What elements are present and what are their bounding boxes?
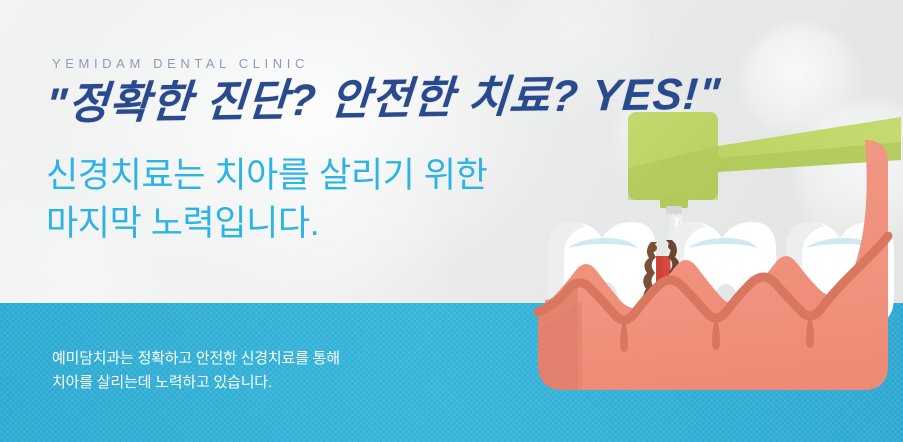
brand-eyebrow: YEMIDAM DENTAL CLINIC (52, 56, 309, 71)
subheadline: 신경치료는 치아를 살리기 위한 마지막 노력입니다. (46, 152, 487, 247)
dental-drill-handpiece (628, 112, 718, 214)
page-title: "정확한 진단? 안전한 치료? YES!" (44, 71, 722, 128)
dental-illustration (520, 0, 903, 442)
dental-clinic-banner: YEMIDAM DENTAL CLINIC "정확한 진단? 안전한 치료? Y… (0, 0, 903, 442)
footer-description: 예미담치과는 정확하고 안전한 신경치료를 통해 치아를 살리는데 노력하고 있… (52, 347, 340, 396)
